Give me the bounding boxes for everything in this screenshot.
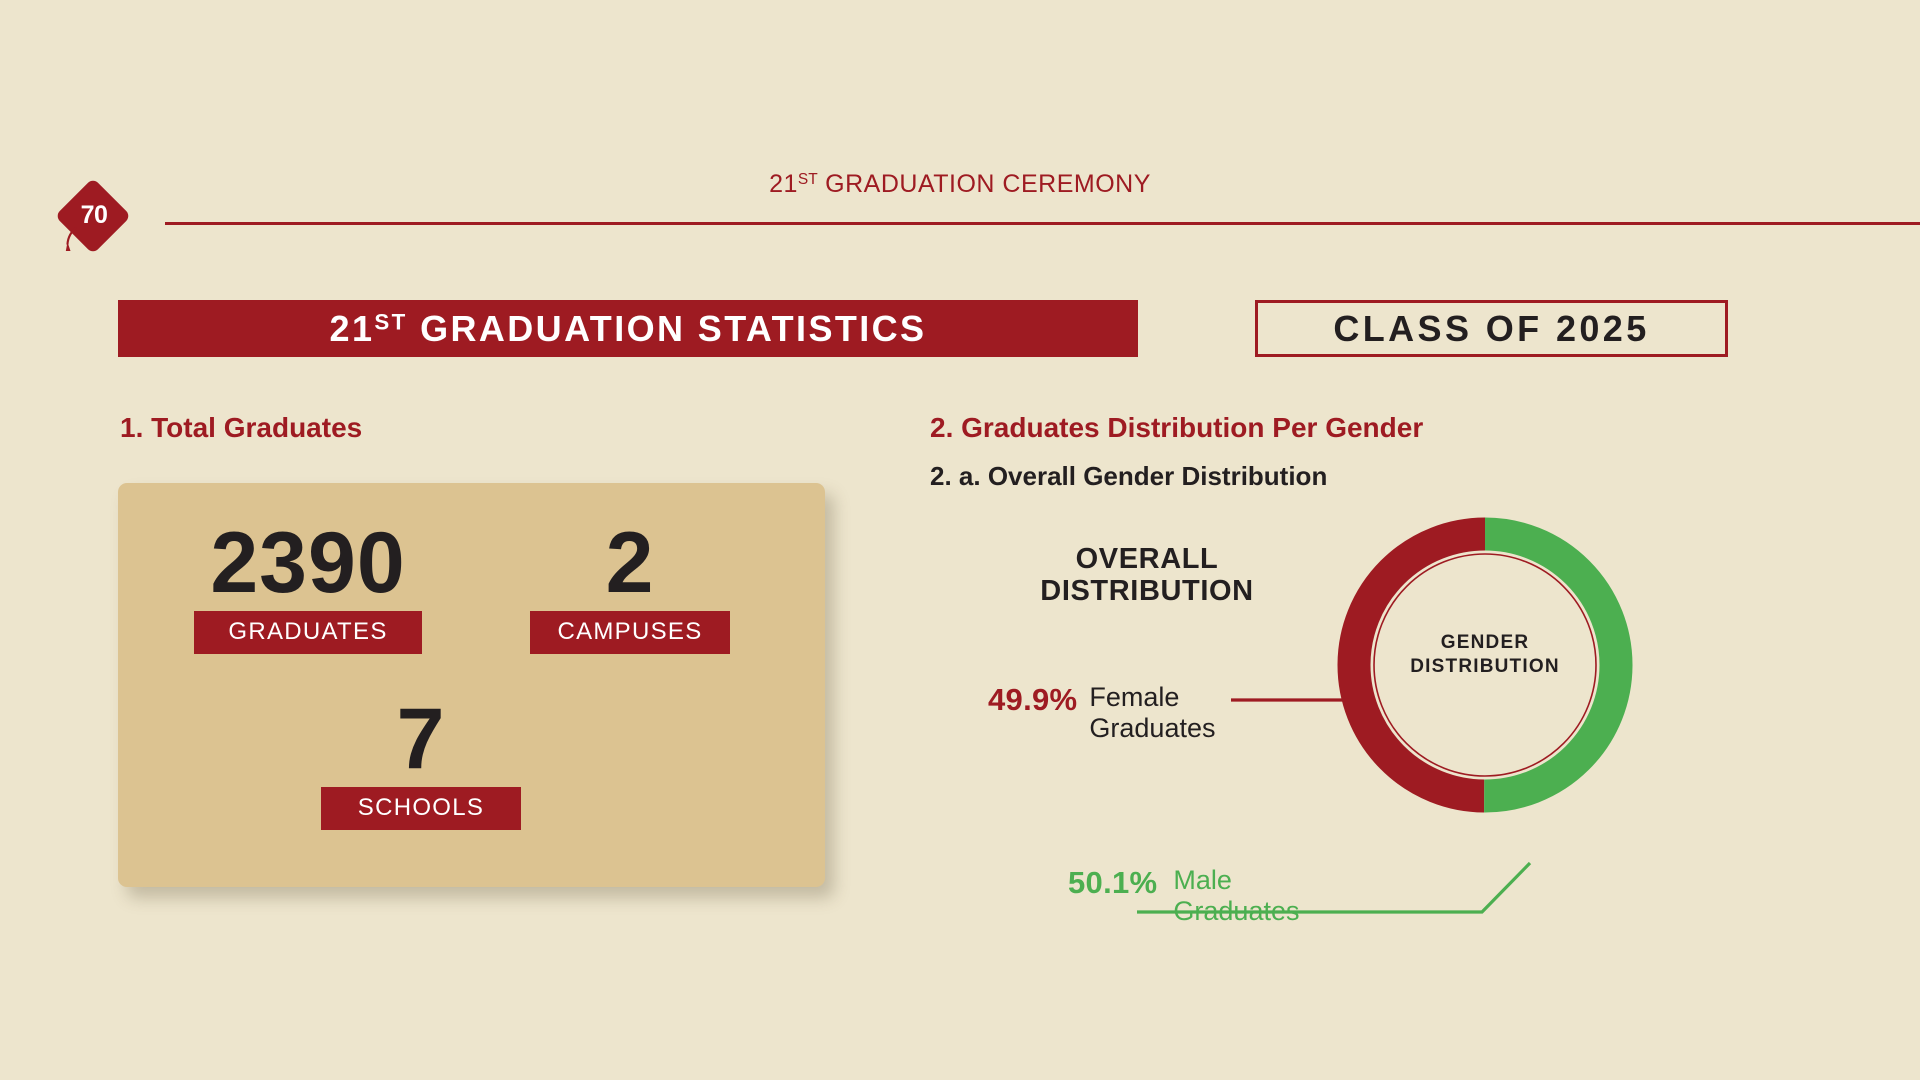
ceremony-title-rest: GRADUATION CEREMONY [818, 170, 1151, 198]
page-header: 21ST GRADUATION CEREMONY [0, 170, 1920, 230]
legend-male-graduates: 50.1% Male Graduates [1068, 865, 1299, 927]
legend-female-graduates: 49.9% Female Graduates [988, 682, 1215, 744]
gender-distribution-donut-chart: GENDER DISTRIBUTION [1333, 513, 1637, 817]
ceremony-title-number: 21 [769, 170, 798, 198]
class-of-label: CLASS OF 2025 [1333, 308, 1649, 350]
ceremony-title: 21ST GRADUATION CEREMONY [0, 170, 1920, 199]
banner-title-ordinal-suffix: ST [374, 309, 407, 334]
donut-chart-title-line1: OVERALL [1007, 543, 1287, 575]
banner-title-block: 21ST GRADUATION STATISTICS [118, 300, 1138, 357]
legend-male-name: Male Graduates [1173, 865, 1299, 927]
donut-chart-title-line2: DISTRIBUTION [1007, 575, 1287, 607]
section-heading-gender-distribution: 2. Graduates Distribution Per Gender [930, 412, 1423, 444]
section-subheading-overall-distribution: 2. a. Overall Gender Distribution [930, 461, 1327, 492]
stat-graduates: 2390 GRADUATES [194, 520, 422, 654]
banner-title-number: 21 [330, 308, 375, 349]
donut-center-label-line2: DISTRIBUTION [1333, 655, 1637, 679]
legend-male-name-line1: Male [1173, 865, 1299, 896]
total-graduates-card: 2390 GRADUATES 2 CAMPUSES 7 SCHOOLS [118, 483, 825, 887]
ceremony-title-ordinal-suffix: ST [798, 171, 818, 188]
donut-chart-title: OVERALL DISTRIBUTION [1007, 543, 1287, 608]
tassel-icon [65, 227, 81, 253]
stat-schools-value: 7 [321, 696, 521, 782]
section-heading-total-graduates: 1. Total Graduates [120, 412, 362, 444]
graduation-cap-badge: 70 [58, 185, 130, 257]
donut-center-label-line1: GENDER [1333, 631, 1637, 655]
banner-title-text: 21ST GRADUATION STATISTICS [330, 308, 927, 350]
stat-graduates-label: GRADUATES [194, 611, 422, 654]
stat-graduates-value: 2390 [194, 520, 422, 606]
stat-schools-label: SCHOOLS [321, 787, 521, 830]
title-banner: 21ST GRADUATION STATISTICS CLASS OF 2025 [118, 300, 1728, 357]
legend-male-percent: 50.1% [1068, 865, 1157, 901]
donut-center-label: GENDER DISTRIBUTION [1333, 631, 1637, 679]
stat-campuses: 2 CAMPUSES [530, 520, 730, 654]
stat-campuses-value: 2 [530, 520, 730, 606]
stat-campuses-label: CAMPUSES [530, 611, 730, 654]
legend-male-name-line2: Graduates [1173, 896, 1299, 927]
header-divider-rule [165, 222, 1920, 225]
banner-title-rest: GRADUATION STATISTICS [408, 308, 927, 349]
stat-schools: 7 SCHOOLS [321, 696, 521, 830]
legend-female-percent: 49.9% [988, 682, 1077, 718]
badge-number: 70 [58, 201, 130, 230]
legend-female-name-line2: Graduates [1089, 713, 1215, 744]
class-of-block: CLASS OF 2025 [1255, 300, 1728, 357]
legend-female-name: Female Graduates [1089, 682, 1215, 744]
legend-female-name-line1: Female [1089, 682, 1215, 713]
